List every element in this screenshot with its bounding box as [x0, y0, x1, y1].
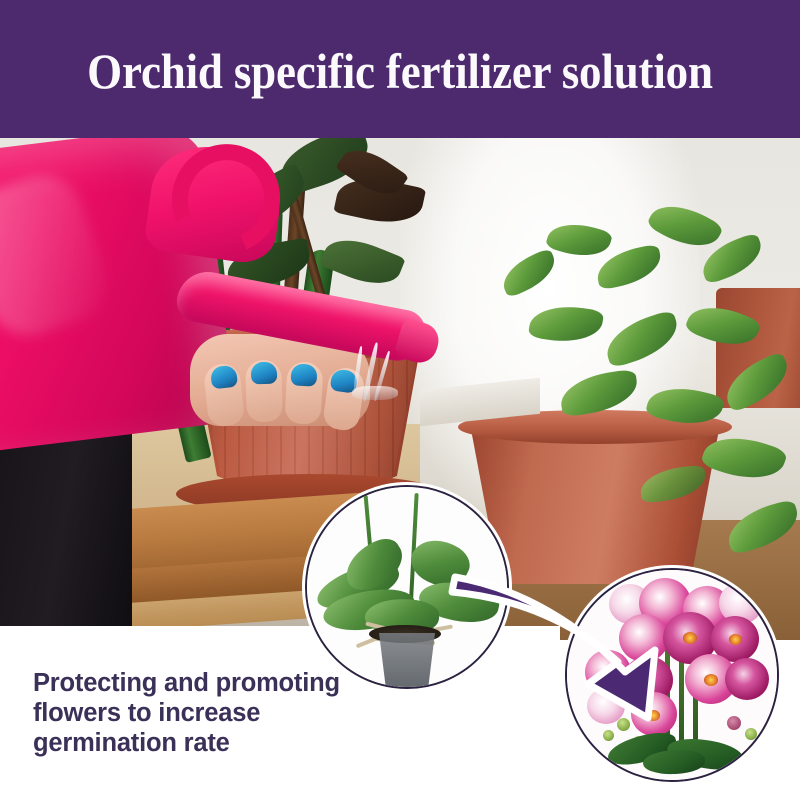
orchid-flower-lip	[729, 634, 742, 645]
orchid-flower-lip	[683, 632, 697, 644]
nursery-pot	[379, 633, 435, 687]
orchid-bud	[745, 728, 757, 740]
fingernail	[290, 363, 317, 386]
fingernail	[251, 362, 278, 385]
page-title: Orchid specific fertilizer solution	[40, 44, 760, 98]
orchid-bud	[603, 730, 614, 741]
watering-can-highlight	[0, 165, 117, 346]
water-splash	[352, 386, 398, 400]
orchid-bud	[727, 716, 741, 730]
orchid-flower-lip	[641, 676, 655, 688]
inset-orchid-seedling	[305, 485, 509, 689]
caption-line-2: flowers to increase	[33, 698, 363, 728]
inset-orchid-blooms	[565, 568, 779, 782]
caption-line-1: Protecting and promoting	[33, 668, 363, 698]
caption-line-3: germination rate	[33, 728, 363, 758]
orchid-flower	[725, 658, 769, 700]
orchid-flower-lip	[601, 668, 614, 679]
terracotta-pot-right	[470, 424, 720, 584]
orchid-flower-lip	[704, 674, 718, 686]
header-banner: Orchid specific fertilizer solution	[0, 0, 800, 138]
poster-root: Orchid specific fertilizer solution	[0, 0, 800, 800]
orchid-bud	[617, 718, 630, 731]
caption-block: Protecting and promoting flowers to incr…	[33, 668, 363, 758]
orchid-flower-lip	[647, 710, 660, 721]
orchid-flower	[619, 614, 669, 662]
